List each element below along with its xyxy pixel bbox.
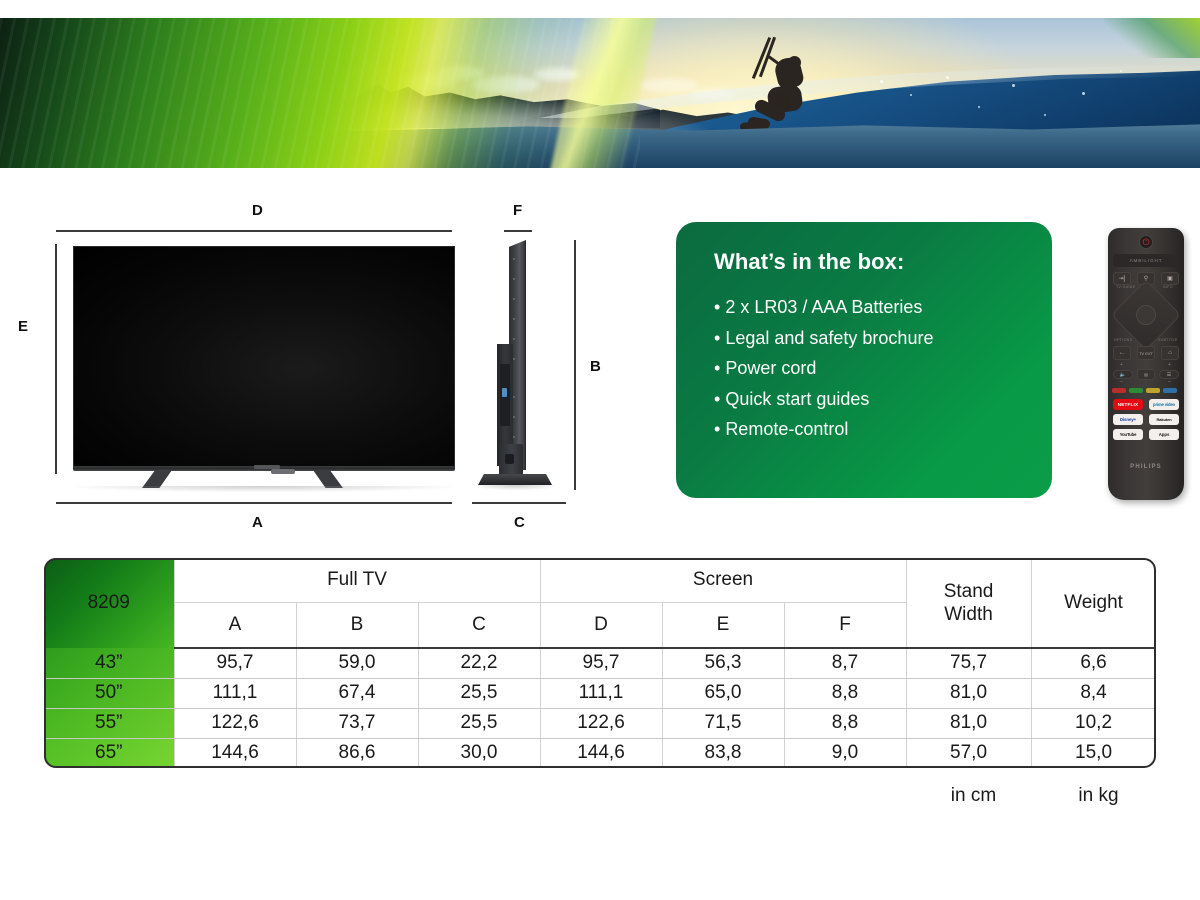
water-droplet [1082, 92, 1085, 95]
side-vent [513, 258, 515, 260]
channel-minus-label: – [1168, 379, 1171, 385]
table-group-header-row: 8209 Full TV Screen Stand Width Weight [44, 558, 1156, 602]
tv-shadow [73, 486, 455, 492]
water-droplet [1012, 84, 1015, 87]
cell: 25,5 [418, 678, 540, 708]
spec-table-container: 8209 Full TV Screen Stand Width Weight A… [44, 558, 1156, 768]
side-vent [513, 358, 515, 360]
source-icon: ⇥] [1113, 272, 1131, 285]
cell: 111,1 [540, 678, 662, 708]
dimension-line-f [504, 230, 532, 232]
dimension-label-e: E [18, 318, 28, 335]
water-droplet [1044, 114, 1046, 116]
cell: 122,6 [174, 708, 296, 738]
sub-header-c: C [418, 602, 540, 648]
color-key-green [1129, 388, 1143, 393]
cell: 15,0 [1031, 738, 1156, 768]
apps-button: Apps [1149, 429, 1179, 440]
cell: 56,3 [662, 648, 784, 678]
color-key-red [1112, 388, 1126, 393]
sub-header-b: B [296, 602, 418, 648]
disney-plus-button: Disney+ [1113, 414, 1143, 425]
back-icon: ← [1113, 346, 1131, 360]
ambilight-rays [0, 18, 640, 168]
ambilight-icon: ▣ [1161, 272, 1179, 285]
dimension-line-e [55, 244, 57, 474]
netflix-button: NETFLIX [1113, 399, 1143, 410]
group-header-full-tv: Full TV [174, 558, 540, 602]
tv-guide-label: TV GUIDE [1116, 285, 1135, 289]
cell: 25,5 [418, 708, 540, 738]
dimension-label-d: D [252, 202, 263, 219]
hdmi-port [502, 388, 507, 397]
hero-banner [0, 18, 1200, 168]
list-item: Remote-control [714, 414, 1034, 445]
stand-neck-mark [505, 454, 514, 464]
table-row: 55” 122,6 73,7 25,5 122,6 71,5 8,8 81,0 … [44, 708, 1156, 738]
table-row: 43” 95,7 59,0 22,2 95,7 56,3 8,7 75,7 6,… [44, 648, 1156, 678]
channel-plus-label: + [1168, 362, 1171, 368]
stand-width-line2: Width [944, 604, 993, 625]
rakuten-tv-button: Rakuten [1149, 414, 1179, 425]
ok-button [1136, 305, 1156, 325]
channel-rocker: ☰ [1159, 370, 1179, 379]
cell: 57,0 [906, 738, 1031, 768]
youtube-button: YouTube [1113, 429, 1143, 440]
table-row: 65” 144,6 86,6 30,0 144,6 83,8 9,0 57,0 … [44, 738, 1156, 768]
cell: 67,4 [296, 678, 418, 708]
tv-side-view: F B C [462, 196, 640, 538]
subtitle-label: SUBTITLE [1158, 338, 1178, 342]
side-vent [513, 298, 515, 300]
remote-control: ⏻ AMBILIGHT ⇥] ⚲ ▣ TV GUIDE INFO OPTIONS… [1108, 228, 1184, 500]
cell: 9,0 [784, 738, 906, 768]
cell: 81,0 [906, 678, 1031, 708]
cell: 30,0 [418, 738, 540, 768]
tv-front-view: D E A [18, 196, 462, 538]
volume-minus-label: – [1120, 379, 1123, 385]
dimension-line-b [574, 240, 576, 490]
side-vent [513, 436, 515, 438]
side-vent [513, 396, 515, 398]
volume-plus-label: + [1120, 362, 1123, 368]
model-cell: 8209 [44, 558, 174, 648]
color-key-blue [1163, 388, 1177, 393]
philips-logo-remote: PHILIPS [1108, 464, 1184, 470]
header-weight: Weight [1031, 558, 1156, 648]
cell: 8,4 [1031, 678, 1156, 708]
list-item: Legal and safety brochure [714, 323, 1034, 354]
water-droplet [880, 80, 883, 83]
list-item: Power cord [714, 353, 1034, 384]
spec-table: 8209 Full TV Screen Stand Width Weight A… [44, 558, 1156, 768]
row-size: 50” [44, 678, 174, 708]
cell: 8,7 [784, 648, 906, 678]
water-droplet [1120, 70, 1122, 72]
cell: 71,5 [662, 708, 784, 738]
unit-label-kg: in kg [1036, 785, 1161, 807]
list-icon: ▤ [1137, 369, 1155, 380]
prime-video-button: prime video [1149, 399, 1179, 410]
dimension-line-d [56, 230, 452, 232]
info-label: INFO [1163, 285, 1173, 289]
dimension-label-c: C [514, 514, 525, 531]
water-droplet [946, 76, 949, 79]
ambilight-button: AMBILIGHT [1113, 254, 1179, 267]
box-contents-list: 2 x LR03 / AAA Batteries Legal and safet… [714, 292, 1034, 445]
row-size: 43” [44, 648, 174, 678]
cell: 95,7 [174, 648, 296, 678]
cell: 144,6 [174, 738, 296, 768]
stand-base [478, 474, 552, 485]
dimension-line-c [472, 502, 566, 504]
stand-connector [271, 469, 295, 474]
cell: 83,8 [662, 738, 784, 768]
water-droplet [910, 94, 912, 96]
row-size: 55” [44, 708, 174, 738]
cell: 86,6 [296, 738, 418, 768]
cell: 65,0 [662, 678, 784, 708]
cell: 111,1 [174, 678, 296, 708]
cell: 122,6 [540, 708, 662, 738]
dimension-label-b: B [590, 358, 601, 375]
table-row: 50” 111,1 67,4 25,5 111,1 65,0 8,8 81,0 … [44, 678, 1156, 708]
dimension-label-f: F [513, 202, 522, 219]
sub-header-e: E [662, 602, 784, 648]
ambilight-corner-accent [1104, 18, 1200, 58]
options-label: OPTIONS [1114, 338, 1132, 342]
unit-label-cm: in cm [911, 785, 1036, 807]
side-vent [513, 278, 515, 280]
cell: 144,6 [540, 738, 662, 768]
side-vent [513, 416, 515, 418]
cell: 73,7 [296, 708, 418, 738]
side-vent [513, 318, 515, 320]
sub-header-d: D [540, 602, 662, 648]
list-item: 2 x LR03 / AAA Batteries [714, 292, 1034, 323]
sub-header-a: A [174, 602, 296, 648]
dimension-label-a: A [252, 514, 263, 531]
side-vent [513, 338, 515, 340]
home-icon: ⌂ [1161, 346, 1179, 360]
cell: 95,7 [540, 648, 662, 678]
row-size: 65” [44, 738, 174, 768]
whats-in-the-box-panel: What’s in the box: 2 x LR03 / AAA Batter… [676, 222, 1052, 498]
tv-screen [73, 246, 455, 468]
product-spec-sheet: D E A F B C [0, 0, 1200, 900]
dimension-line-a [56, 502, 452, 504]
cell: 10,2 [1031, 708, 1156, 738]
group-header-screen: Screen [540, 558, 906, 602]
cell: 59,0 [296, 648, 418, 678]
stand-shadow [476, 485, 556, 490]
stand-width-line1: Stand [944, 581, 994, 602]
cell: 75,7 [906, 648, 1031, 678]
tv-icon: TV EXT [1137, 346, 1155, 360]
cell: 8,8 [784, 678, 906, 708]
cell: 8,8 [784, 708, 906, 738]
power-icon: ⏻ [1139, 235, 1153, 249]
color-key-yellow [1146, 388, 1160, 393]
list-item: Quick start guides [714, 384, 1034, 415]
header-stand-width: Stand Width [906, 558, 1031, 648]
cell: 6,6 [1031, 648, 1156, 678]
box-title: What’s in the box: [714, 249, 904, 275]
sub-header-f: F [784, 602, 906, 648]
volume-rocker: 🔈 [1113, 370, 1133, 379]
water-droplet [978, 106, 980, 108]
cell: 81,0 [906, 708, 1031, 738]
cell: 22,2 [418, 648, 540, 678]
